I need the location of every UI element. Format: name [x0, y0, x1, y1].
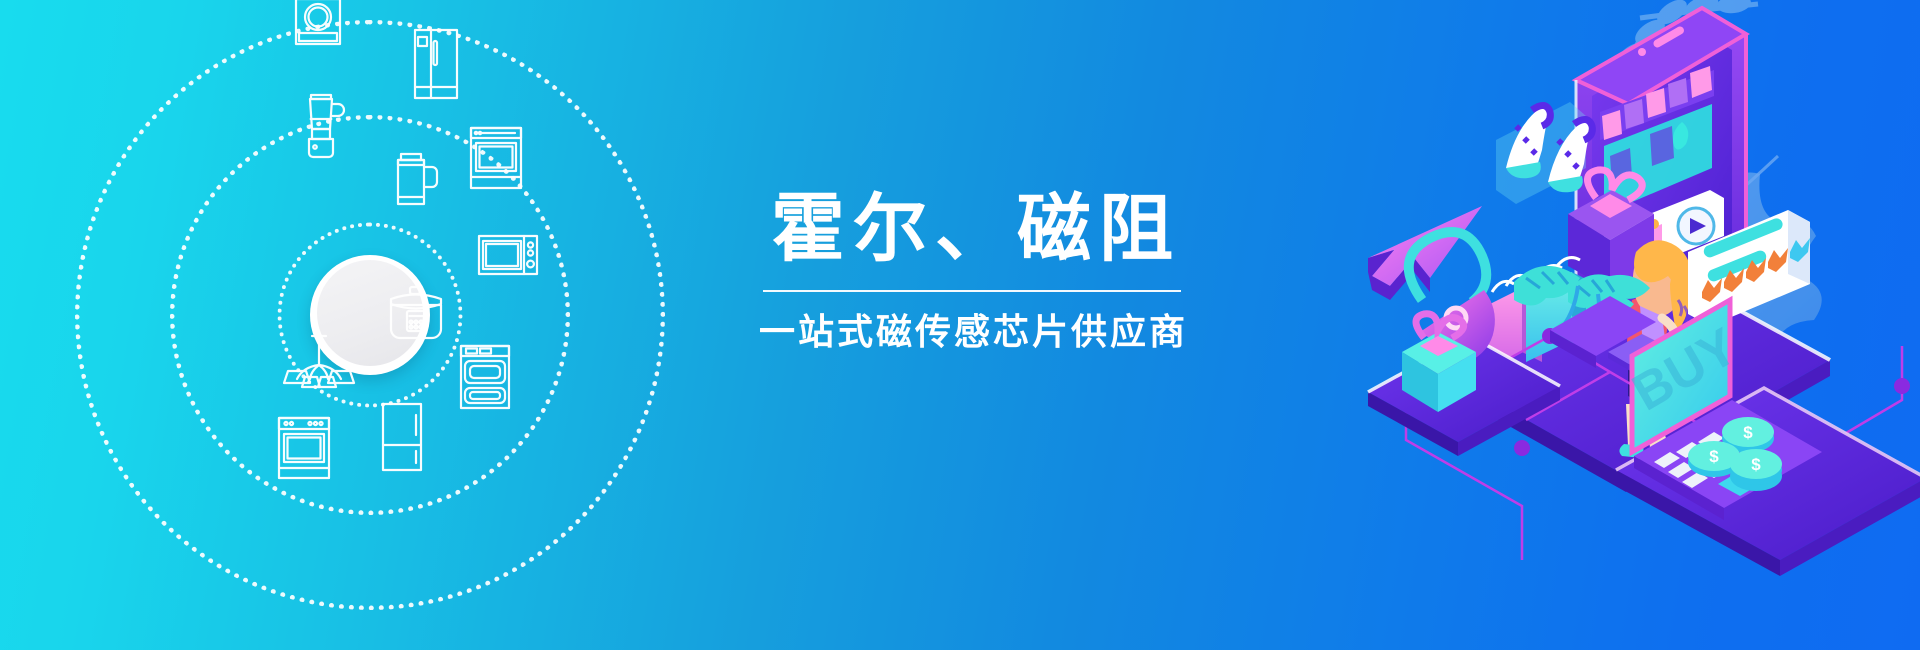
bottom-freezer-fridge-icon: [380, 401, 424, 473]
gas-stove-icon: [276, 415, 332, 481]
chandelier-lamp-icon: [282, 333, 356, 395]
cursor-arrow-icon: [1368, 206, 1482, 300]
title-divider: [763, 290, 1181, 292]
rice-cooker-icon: [384, 285, 448, 345]
page-title: 霍尔、磁阻: [752, 190, 1192, 268]
ecommerce-isometric-illustration: BUY $: [1310, 0, 1920, 650]
hero-text-block: 霍尔、磁阻 一站式磁传感芯片供应商: [752, 190, 1192, 351]
hero-banner: 霍尔、磁阻 一站式磁传感芯片供应商: [0, 0, 1920, 650]
refrigerator-side-by-side-icon: [412, 27, 460, 101]
double-wall-oven-icon: [458, 343, 512, 411]
svg-text:$: $: [1743, 423, 1753, 442]
svg-text:$: $: [1709, 447, 1719, 466]
svg-text:$: $: [1751, 455, 1761, 474]
high-heel-shoes: [1496, 102, 1592, 204]
microwave-oven-icon: [476, 233, 540, 277]
blender-icon: [298, 91, 346, 165]
page-subtitle: 一站式磁传感芯片供应商: [752, 312, 1192, 352]
oven-range-icon: [468, 125, 524, 191]
appliance-orbit-diagram: [60, 0, 680, 650]
electric-kettle-icon: [388, 147, 444, 213]
washing-machine-icon: [293, 0, 343, 47]
